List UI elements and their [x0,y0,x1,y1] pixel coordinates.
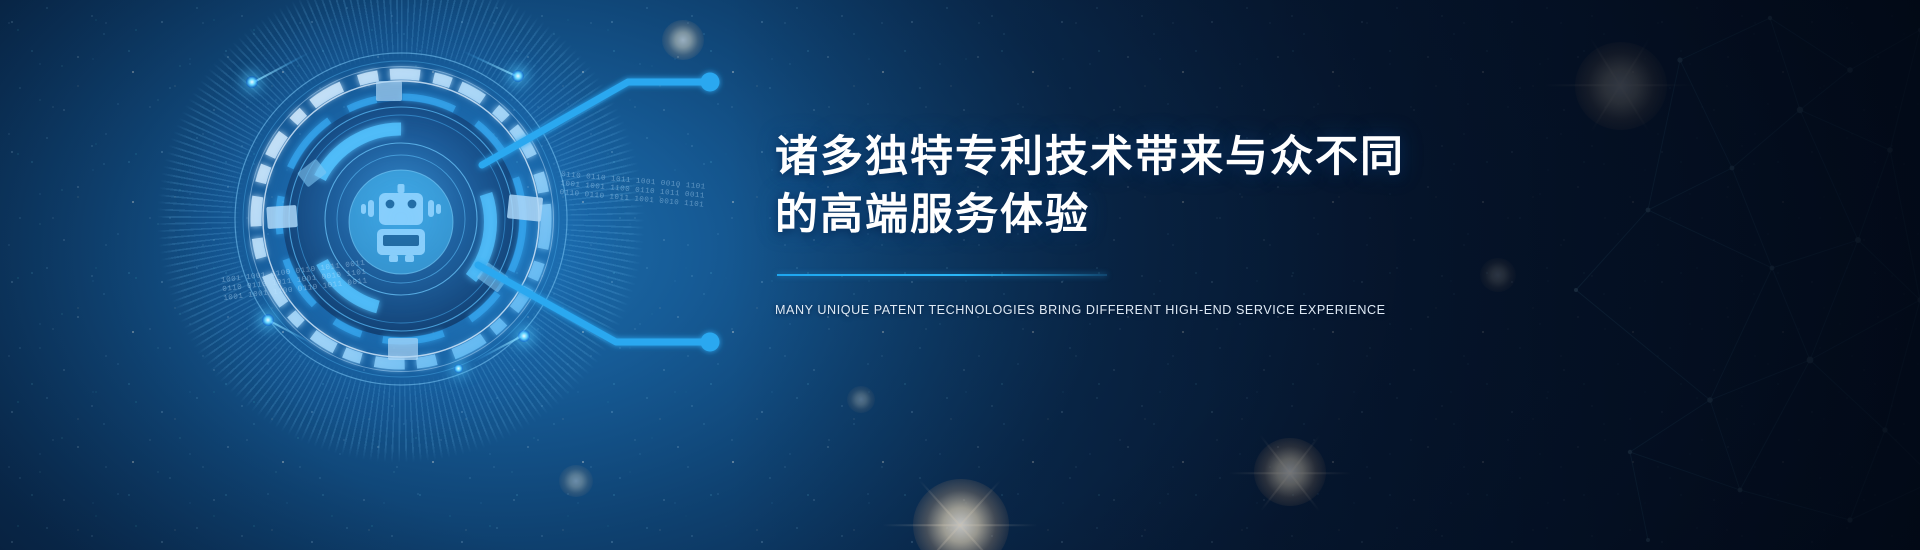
subtitle-text: MANY UNIQUE PATENT TECHNOLOGIES BRING DI… [775,303,1475,317]
callout-connectors [420,50,760,380]
headline-line-1: 诸多独特专利技术带来与众不同 [775,128,1475,186]
hero-banner: 1001 1001 1100 0110 1011 0011 0110 0110 … [0,0,1920,550]
accent-divider [777,274,1107,276]
callout-line-upper [482,73,720,166]
callout-line-lower [478,265,720,352]
headline-line-2: 的高端服务体验 [775,186,1475,244]
banner-text-block: 诸多独特专利技术带来与众不同 的高端服务体验 MANY UNIQUE PATEN… [775,128,1475,317]
